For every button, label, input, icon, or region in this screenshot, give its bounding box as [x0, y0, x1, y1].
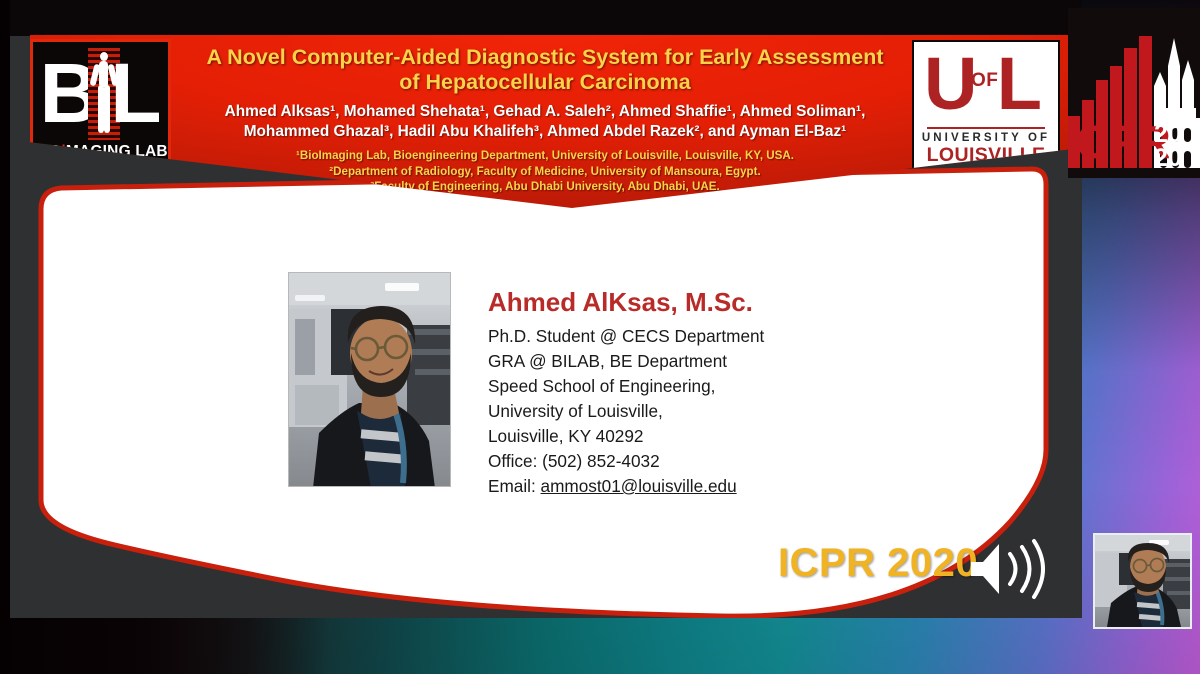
authors-line-1: Ahmed Alksas¹, Mohamed Shehata¹, Gehad A… — [190, 102, 900, 122]
svg-text:20: 20 — [1154, 144, 1182, 172]
presenter-line-1: Ph.D. Student @ CECS Department — [488, 324, 958, 349]
webcam-thumbnail[interactable] — [1093, 533, 1192, 629]
email-label: Email: — [488, 476, 541, 496]
speaker-audio-icon — [965, 538, 1053, 600]
presenter-details: Ahmed AlKsas, M.Sc. Ph.D. Student @ CECS… — [488, 286, 958, 499]
email-link[interactable]: ammost01@louisville.edu — [541, 476, 737, 496]
presenter-email-row: Email: ammost01@louisville.edu — [488, 474, 958, 499]
icpr-conference-logo: ICPR 20 20 — [1068, 8, 1200, 178]
uofl-divider — [927, 127, 1045, 129]
uofl-letter-of: OF — [971, 70, 998, 92]
footer-conference-label: ICPR 2020 — [778, 541, 978, 586]
presenter-name: Ahmed AlKsas, M.Sc. — [488, 286, 958, 318]
uofl-letter-l: L — [997, 46, 1042, 122]
affiliation-1: ¹BioImaging Lab, Bioengineering Departme… — [190, 148, 900, 164]
bil-letter-l: L — [110, 46, 161, 140]
presenter-line-3: Speed School of Engineering, — [488, 374, 958, 399]
paper-title-line-1: A Novel Computer-Aided Diagnostic System… — [190, 45, 900, 70]
presenter-line-5: Louisville, KY 40292 — [488, 424, 958, 449]
screen: Ahmed AlKsas, M.Sc. Ph.D. Student @ CECS… — [0, 0, 1200, 674]
presenter-line-2: GRA @ BILAB, BE Department — [488, 349, 958, 374]
uofl-line-1: UNIVERSITY OF — [922, 132, 1050, 144]
shared-slide: Ahmed AlKsas, M.Sc. Ph.D. Student @ CECS… — [10, 0, 1082, 618]
uofl-letter-u: U — [924, 46, 977, 122]
slide-top-bar — [10, 0, 1082, 36]
title-block: A Novel Computer-Aided Diagnostic System… — [190, 45, 900, 195]
presenter-line-6: Office: (502) 852-4032 — [488, 449, 958, 474]
presenter-photo — [288, 272, 451, 487]
authors-line-2: Mohammed Ghazal³, Hadil Abu Khalifeh³, A… — [190, 122, 900, 142]
presenter-line-4: University of Louisville, — [488, 399, 958, 424]
paper-title-line-2: of Hepatocellular Carcinoma — [190, 70, 900, 95]
